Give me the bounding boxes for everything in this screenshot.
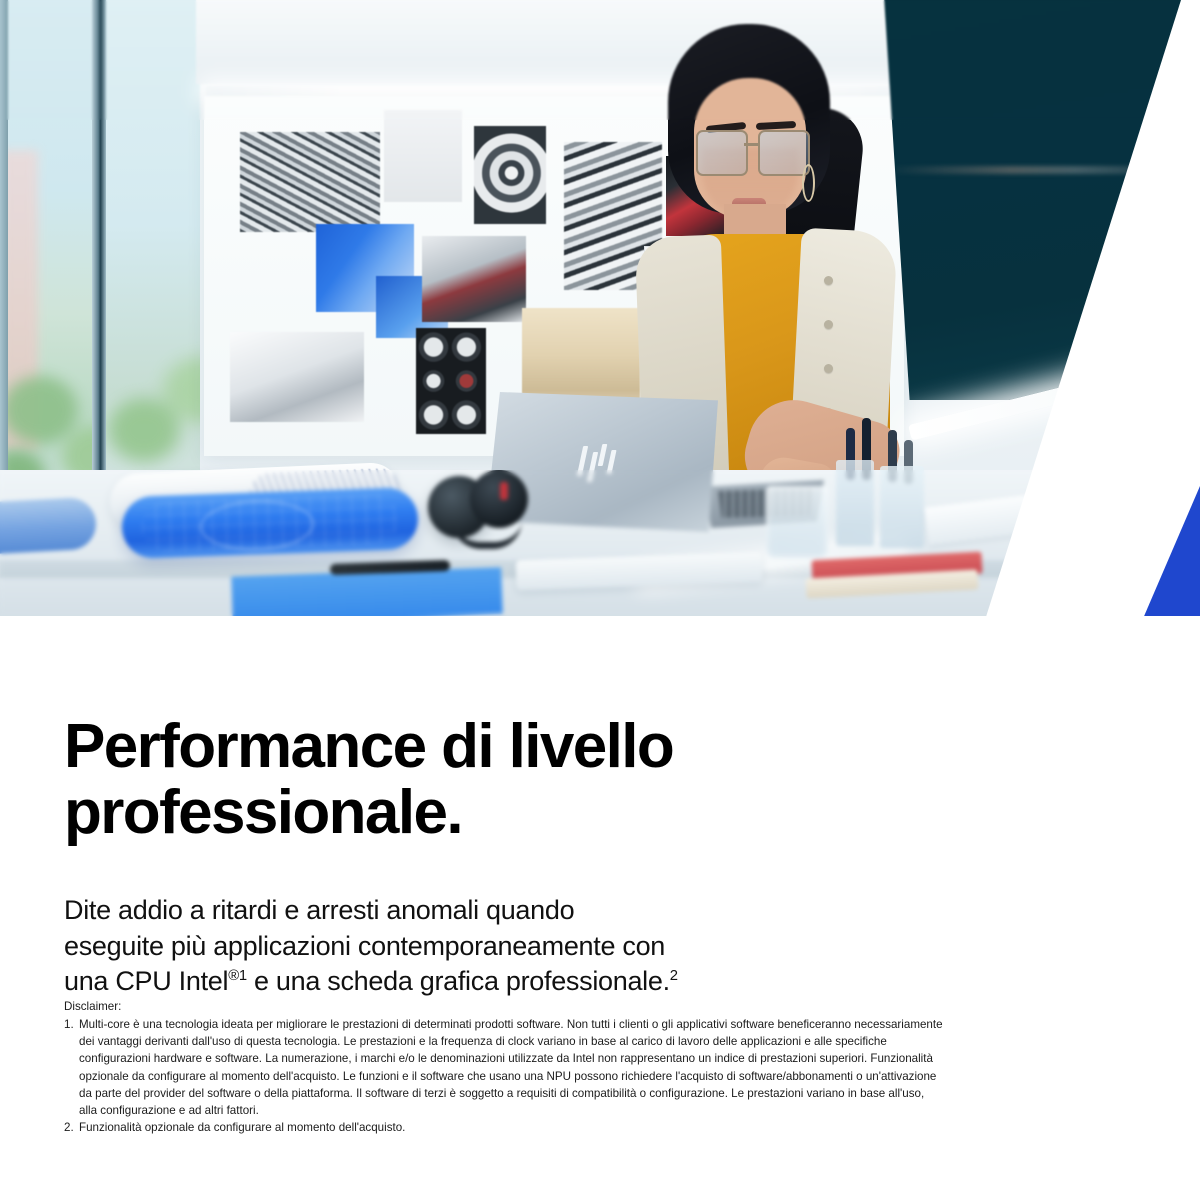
disclaimer-title: Disclaimer: (64, 998, 944, 1015)
vest-button-2 (824, 320, 833, 329)
disclaimer-block: Disclaimer: 1. Multi-core è una tecnolog… (64, 998, 944, 1136)
blueprint-roll-blue (121, 487, 419, 559)
disclaimer-item: 1. Multi-core è una tecnologia ideata pe… (64, 1016, 944, 1119)
footnote-marker-1: ®1 (228, 968, 247, 984)
blueprint-sheet (231, 567, 502, 616)
content-area: Performance di livello professionale. Di… (0, 616, 1200, 1200)
moodboard-sketch-engine (240, 132, 380, 232)
pen-holder-1 (836, 460, 874, 546)
eyeglasses (696, 130, 810, 174)
disclaimer-item-text: Funzionalità opzionale da configurare al… (79, 1121, 405, 1134)
vest-button-1 (824, 276, 833, 285)
headphone-cup-right (470, 470, 528, 528)
moodboard-engine-detail (422, 236, 526, 322)
subheadline-line-3a: una CPU Intel (64, 966, 228, 996)
subheadline: Dite addio a ritardi e arresti anomali q… (64, 893, 784, 1000)
moodboard-wheel-rim (474, 126, 546, 224)
subheadline-line-2: eseguite più applicazioni contemporaneam… (64, 931, 665, 961)
pen-holder-2 (880, 466, 924, 548)
moodboard-parts-grid (384, 110, 462, 202)
disclaimer-list: 1. Multi-core è una tecnologia ideata pe… (64, 1016, 944, 1136)
page-title: Performance di livello professionale. (64, 714, 824, 848)
vest-button-3 (824, 364, 833, 373)
disclaimer-item-number: 1. (64, 1016, 74, 1033)
disclaimer-item-text: Multi-core è una tecnologia ideata per m… (79, 1018, 943, 1117)
moodboard-car-wireframe (230, 332, 364, 422)
subheadline-line-3b: e una scheda grafica professionale. (247, 966, 670, 996)
glasses-bridge (744, 143, 760, 146)
lens-left (696, 130, 748, 176)
water-glass (766, 486, 828, 558)
disclaimer-item-number: 2. (64, 1119, 74, 1136)
footnote-marker-2: 2 (670, 968, 678, 984)
marketing-slide: Performance di livello professionale. Di… (0, 0, 1200, 1200)
subheadline-line-1: Dite addio a ritardi e arresti anomali q… (64, 895, 574, 925)
hp-logo-icon (578, 444, 618, 486)
hp-laptop (486, 392, 742, 542)
headphone-accent (500, 482, 508, 500)
moodboard-wheels-grid (416, 328, 486, 434)
disclaimer-item: 2. Funzionalità opzionale da configurare… (64, 1119, 944, 1136)
earring (802, 164, 815, 202)
lens-right (758, 130, 810, 176)
blueprint-roll-left (0, 497, 97, 556)
